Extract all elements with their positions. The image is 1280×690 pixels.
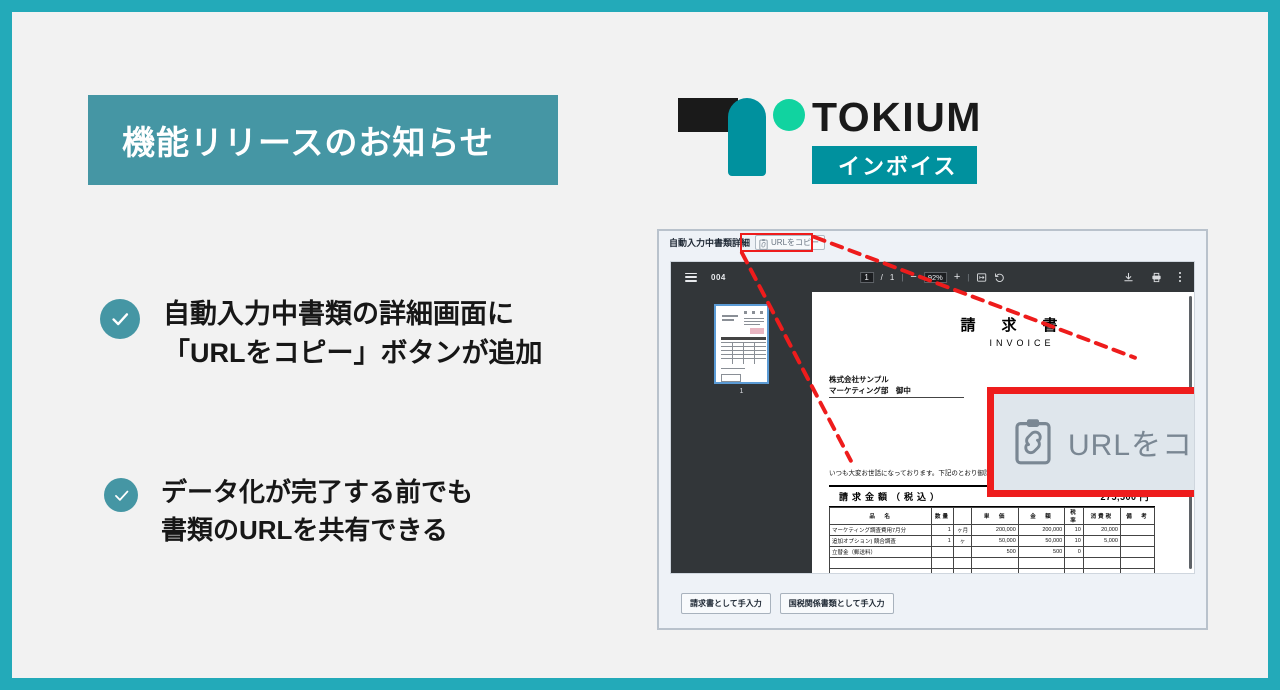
hamburger-menu-icon[interactable]: [685, 273, 697, 282]
invoice-title-en: INVOICE: [872, 338, 1172, 348]
pdf-viewer-body: 1 請求書 INVOICE 株式会社サンプル マーケティング部 御中 いつも大変…: [671, 292, 1194, 573]
invoice-line-items-table: 品 名数量単 価金 額税率消費税備 考 マーケティング調査費用7月分1ヶ月200…: [829, 507, 1155, 573]
table-cell: 1: [932, 525, 954, 536]
table-cell: 50,000: [972, 536, 1018, 547]
toolbar-divider: |: [901, 273, 903, 282]
invoice-total-label: 請求金額（税込）: [839, 490, 943, 503]
table-header-row: 品 名数量単 価金 額税率消費税備 考: [830, 508, 1155, 525]
table-cell: [1065, 558, 1084, 569]
table-cell: [953, 558, 972, 569]
invoice-addressee: 株式会社サンプル マーケティング部 御中: [829, 374, 964, 398]
page-title: 機能リリースのお知らせ: [88, 116, 494, 164]
table-cell: [1083, 569, 1120, 574]
table-row: 立替金（郵送料）5005000: [830, 547, 1155, 558]
clipboard-link-icon: [1012, 418, 1054, 466]
feature-bullet-2-text: データ化が完了する前でも 書類のURLを共有できる: [161, 473, 473, 549]
pdf-toolbar: 004 1 / 1 | − 92% + |: [671, 262, 1194, 292]
app-header-title: 自動入力中書類詳細: [669, 236, 750, 249]
table-cell: 50,000: [1018, 536, 1064, 547]
table-cell: [1120, 558, 1154, 569]
table-cell: [1083, 547, 1120, 558]
table-cell: [953, 569, 972, 574]
table-cell: 500: [1018, 547, 1064, 558]
logo-product-badge: インボイス: [812, 146, 977, 184]
table-row: マーケティング調査費用7月分1ヶ月200,000200,0001020,000: [830, 525, 1155, 536]
logo-wordmark: TOKIUM: [812, 92, 982, 142]
page-thumbnail[interactable]: [714, 304, 769, 384]
invoice-table: 請求金額（税込） 275,500 円 品 名数量単 価金 額税率消費税備 考: [829, 485, 1155, 573]
table-column-header: 品 名: [830, 508, 932, 525]
table-column-header: 数量: [932, 508, 954, 525]
download-icon[interactable]: [1123, 272, 1134, 283]
copy-url-magnified-callout: URLをコピー: [987, 387, 1194, 497]
pdf-page-pane: 請求書 INVOICE 株式会社サンプル マーケティング部 御中 いつも大変お世…: [812, 292, 1194, 573]
pdf-filename: 004: [711, 273, 726, 282]
slide-root: 機能リリースのお知らせ TOKIUM インボイス 自動入力中書類の詳細画面に 「…: [0, 0, 1280, 690]
table-cell: [953, 547, 972, 558]
table-cell: ヶ月: [953, 525, 972, 536]
table-row: [830, 558, 1155, 569]
copy-url-magnified-label: URLをコピー: [1068, 420, 1194, 464]
slide-canvas: 機能リリースのお知らせ TOKIUM インボイス 自動入力中書類の詳細画面に 「…: [12, 12, 1268, 678]
table-column-header: 税率: [1065, 508, 1084, 525]
table-cell: [1120, 547, 1154, 558]
table-cell: [1018, 558, 1064, 569]
page-total: 1: [890, 273, 894, 282]
table-row: [830, 569, 1155, 574]
pdf-thumbnail-pane: 1: [671, 292, 812, 573]
fit-to-page-icon[interactable]: [976, 272, 987, 283]
table-cell: [932, 547, 954, 558]
manual-entry-invoice-button[interactable]: 請求書として手入力: [681, 593, 771, 614]
table-cell: [932, 558, 954, 569]
check-circle-icon: [100, 299, 140, 339]
table-cell: 10: [1065, 525, 1084, 536]
kebab-menu-icon[interactable]: [1179, 272, 1181, 282]
invoice-addressee-line2: マーケティング部 御中: [829, 385, 964, 396]
screenshot-footer: 請求書として手入力 国税関係書類として手入力: [659, 578, 1206, 628]
table-column-header: 単 価: [972, 508, 1018, 525]
copy-url-button[interactable]: URLをコピー: [755, 235, 825, 250]
table-cell: マーケティング調査費用7月分: [830, 525, 932, 536]
table-cell: 200,000: [1018, 525, 1064, 536]
table-cell: 立替金（郵送料）: [830, 547, 932, 558]
table-cell: [1083, 558, 1120, 569]
table-cell: [1018, 569, 1064, 574]
table-cell: [830, 569, 932, 574]
rotate-icon[interactable]: [994, 272, 1005, 283]
table-cell: [1120, 525, 1154, 536]
table-cell: [1120, 569, 1154, 574]
table-column-header: 金 額: [1018, 508, 1064, 525]
feature-bullet-1-text: 自動入力中書類の詳細画面に 「URLをコピー」ボタンが追加: [163, 295, 543, 373]
table-cell: [972, 569, 1018, 574]
zoom-out-button[interactable]: −: [910, 272, 916, 283]
table-column-header: [953, 508, 972, 525]
toolbar-divider: |: [967, 273, 969, 282]
copy-url-button-label: URLをコピー: [771, 237, 819, 248]
table-column-header: 消費税: [1083, 508, 1120, 525]
clipboard-link-icon: [759, 237, 768, 248]
table-cell: [1065, 569, 1084, 574]
table-cell: [932, 569, 954, 574]
table-cell: 追加オプション) 競合調査: [830, 536, 932, 547]
table-column-header: 備 考: [1120, 508, 1154, 525]
check-circle-icon: [104, 478, 138, 512]
feature-bullet-2: データ化が完了する前でも 書類のURLを共有できる: [104, 473, 473, 549]
table-cell: 5,000: [1083, 536, 1120, 547]
product-screenshot: 自動入力中書類詳細 URLをコピー: [657, 229, 1208, 630]
tokium-t-mark-icon: [678, 98, 798, 176]
page-number-input[interactable]: 1: [860, 272, 874, 283]
invoice-addressee-line1: 株式会社サンプル: [829, 374, 964, 385]
table-cell: 200,000: [972, 525, 1018, 536]
table-cell: 500: [972, 547, 1018, 558]
zoom-level-value[interactable]: 92%: [924, 272, 947, 283]
app-header-bar: 自動入力中書類詳細 URLをコピー: [659, 231, 1206, 254]
invoice-title-jp: 請求書: [872, 314, 1172, 335]
table-cell: 1: [932, 536, 954, 547]
page-thumbnail-label: 1: [740, 388, 744, 395]
print-icon[interactable]: [1151, 272, 1162, 283]
feature-bullet-1: 自動入力中書類の詳細画面に 「URLをコピー」ボタンが追加: [100, 295, 543, 373]
title-banner: 機能リリースのお知らせ: [88, 95, 558, 185]
table-cell: 20,000: [1083, 525, 1120, 536]
manual-entry-tax-document-button[interactable]: 国税関係書類として手入力: [780, 593, 894, 614]
table-cell: 0: [1065, 547, 1084, 558]
invoice-title: 請求書 INVOICE: [872, 314, 1172, 348]
table-cell: 10: [1065, 536, 1084, 547]
zoom-in-button[interactable]: +: [954, 272, 960, 283]
table-cell: [1120, 536, 1154, 547]
table-cell: [972, 558, 1018, 569]
page-separator: /: [881, 273, 883, 282]
pdf-viewer: 004 1 / 1 | − 92% + |: [670, 261, 1195, 574]
table-row: 追加オプション) 競合調査1ヶ50,00050,000105,000: [830, 536, 1155, 547]
tokium-logo: TOKIUM インボイス: [672, 92, 1202, 197]
table-cell: [830, 558, 932, 569]
table-cell: ヶ: [953, 536, 972, 547]
